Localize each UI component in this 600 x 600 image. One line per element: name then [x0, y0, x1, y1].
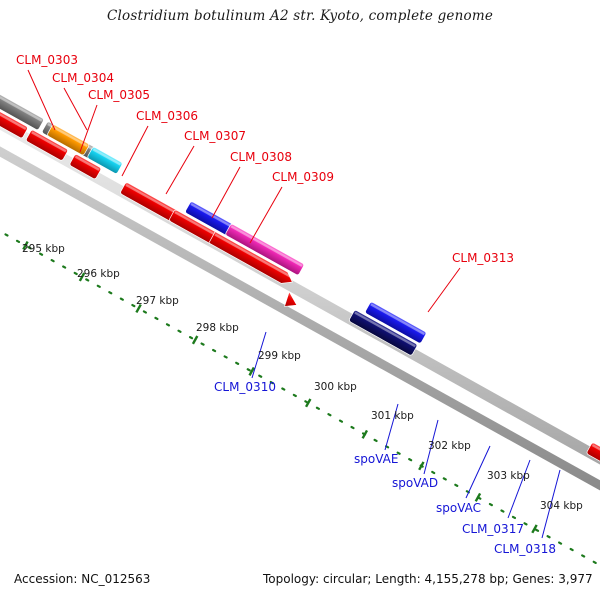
ruler-label: 296 kbp — [77, 268, 120, 280]
gene-label-spovae[interactable]: spoVAE — [354, 453, 398, 465]
ruler-label: 302 kbp — [428, 440, 471, 452]
ruler-label: 300 kbp — [314, 381, 357, 393]
gene-label-clm_0313[interactable]: CLM_0313 — [452, 252, 514, 264]
gene-label-clm_0318[interactable]: CLM_0318 — [494, 543, 556, 555]
label-leader-line — [250, 187, 282, 243]
accession-text: Accession: NC_012563 — [14, 572, 150, 586]
gene-label-spovac[interactable]: spoVAC — [436, 502, 481, 514]
label-leader-line — [122, 126, 148, 176]
gene-label-clm_0306[interactable]: CLM_0306 — [136, 110, 198, 122]
ruler-label: 299 kbp — [258, 350, 301, 362]
gene-label-clm_0303[interactable]: CLM_0303 — [16, 54, 78, 66]
ruler-label: 301 kbp — [371, 410, 414, 422]
gene-label-clm_0305[interactable]: CLM_0305 — [88, 89, 150, 101]
gene-label-clm_0309[interactable]: CLM_0309 — [272, 171, 334, 183]
ruler-label: 303 kbp — [487, 470, 530, 482]
ruler-label: 297 kbp — [136, 295, 179, 307]
gene-label-clm_0317[interactable]: CLM_0317 — [462, 523, 524, 535]
genome-summary-text: Topology: circular; Length: 4,155,278 bp… — [263, 572, 593, 586]
ruler-label: 295 kbp — [22, 243, 65, 255]
label-leader-line — [508, 460, 530, 518]
ruler-label: 298 kbp — [196, 322, 239, 334]
ruler-tick — [193, 336, 197, 344]
gene-label-spovad[interactable]: spoVAD — [392, 477, 438, 489]
genome-diagram-canvas: Clostridium botulinum A2 str. Kyoto, com… — [0, 0, 600, 600]
gene-label-clm_0310[interactable]: CLM_0310 — [214, 381, 276, 393]
gene-label-clm_0307[interactable]: CLM_0307 — [184, 130, 246, 142]
backbone-lower — [0, 146, 600, 492]
ruler-label: 304 kbp — [540, 500, 583, 512]
label-leader-line — [64, 88, 87, 130]
label-leader-line — [166, 146, 194, 194]
gene-label-clm_0304[interactable]: CLM_0304 — [52, 72, 114, 84]
gene-label-clm_0308[interactable]: CLM_0308 — [230, 151, 292, 163]
label-leader-line — [428, 268, 460, 312]
label-leader-line — [212, 167, 240, 218]
